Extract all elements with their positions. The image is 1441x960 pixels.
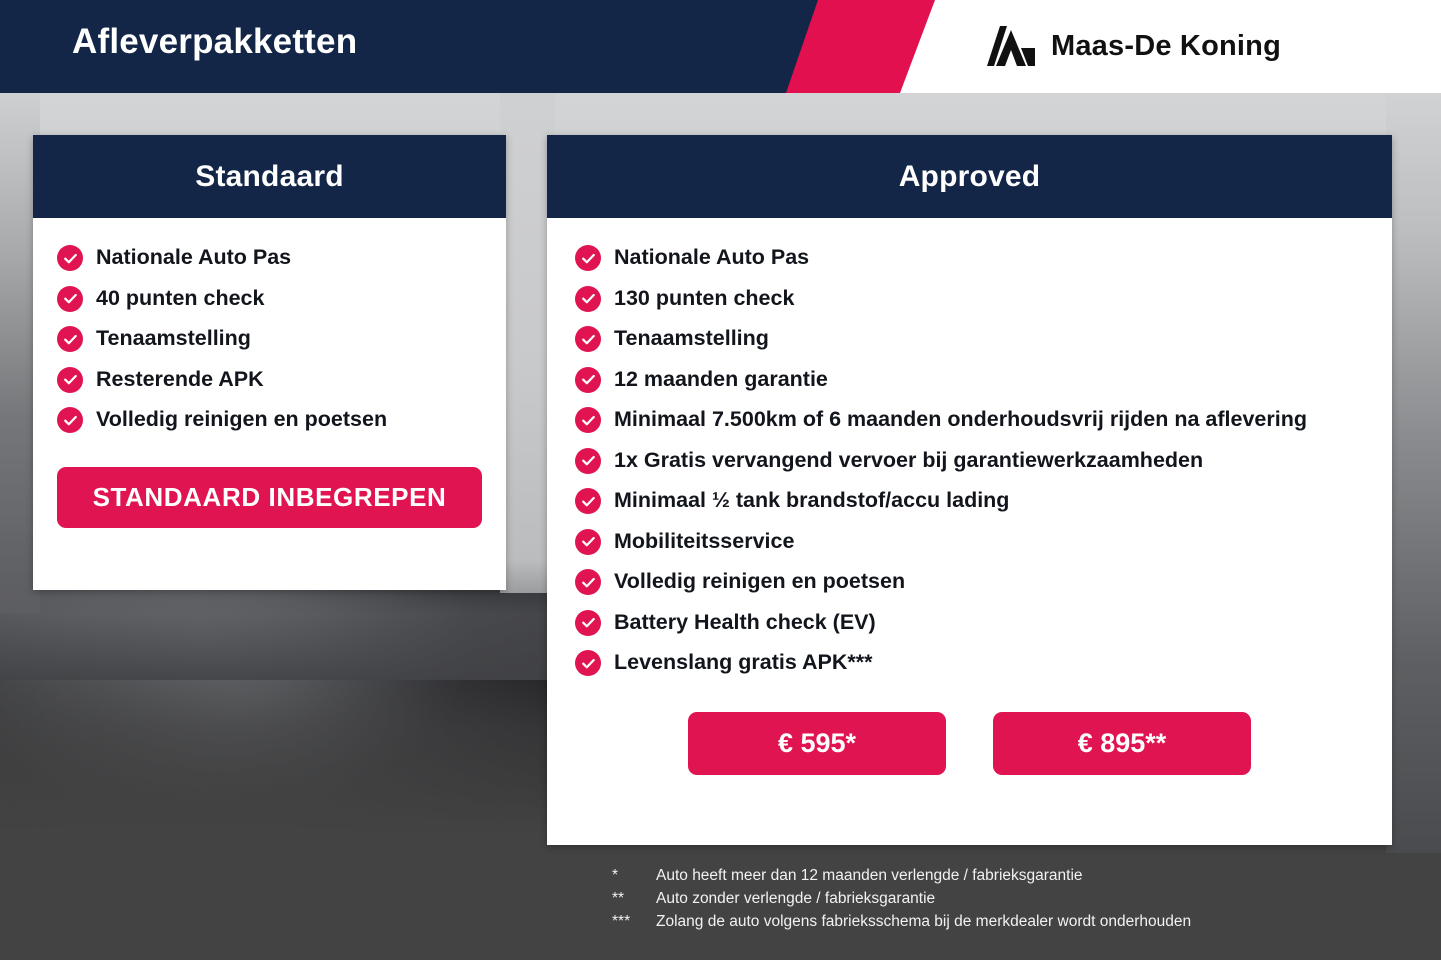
package-title-approved: Approved bbox=[547, 135, 1392, 218]
package-card-standaard: Standaard Nationale Auto Pas 40 punten c… bbox=[33, 135, 506, 590]
list-item: Nationale Auto Pas bbox=[575, 242, 1366, 273]
standaard-inbegrepen-button[interactable]: STANDAARD INBEGREPEN bbox=[57, 467, 482, 528]
footnote-row: * Auto heeft meer dan 12 maanden verleng… bbox=[612, 864, 1191, 887]
footnotes: * Auto heeft meer dan 12 maanden verleng… bbox=[612, 864, 1191, 933]
price-button-595[interactable]: € 595* bbox=[688, 712, 946, 775]
check-circle-icon bbox=[575, 286, 601, 312]
poster-stage: Afleverpakketten Maas-De Koning Standaar… bbox=[0, 0, 1441, 960]
check-circle-icon bbox=[57, 367, 83, 393]
check-circle-icon bbox=[57, 245, 83, 271]
page-title: Afleverpakketten bbox=[72, 22, 357, 62]
check-circle-icon bbox=[575, 529, 601, 555]
maas-de-koning-m-icon bbox=[987, 26, 1035, 66]
feature-label: 1x Gratis vervangend vervoer bij garanti… bbox=[614, 445, 1203, 476]
check-circle-icon bbox=[575, 407, 601, 433]
list-item: Resterende APK bbox=[57, 364, 484, 395]
check-circle-icon bbox=[575, 610, 601, 636]
package-body-approved: Nationale Auto Pas 130 punten check Tena… bbox=[547, 218, 1392, 803]
feature-label: Nationale Auto Pas bbox=[96, 242, 291, 273]
package-body-standaard: Nationale Auto Pas 40 punten check Tenaa… bbox=[33, 218, 506, 554]
check-circle-icon bbox=[575, 488, 601, 514]
check-circle-icon bbox=[575, 569, 601, 595]
background-right-band bbox=[1386, 93, 1441, 853]
page-header: Afleverpakketten Maas-De Koning bbox=[0, 0, 1441, 93]
price-button-row: € 595* € 895** bbox=[547, 688, 1392, 803]
list-item: 1x Gratis vervangend vervoer bij garanti… bbox=[575, 445, 1366, 476]
feature-list-approved: Nationale Auto Pas 130 punten check Tena… bbox=[547, 242, 1392, 678]
feature-label: Volledig reinigen en poetsen bbox=[96, 404, 387, 435]
list-item: Minimaal ½ tank brandstof/accu lading bbox=[575, 485, 1366, 516]
footnote-text: Zolang de auto volgens fabrieksschema bi… bbox=[656, 910, 1191, 933]
footnote-row: *** Zolang de auto volgens fabrieksschem… bbox=[612, 910, 1191, 933]
check-circle-icon bbox=[575, 326, 601, 352]
feature-label: 40 punten check bbox=[96, 283, 264, 314]
footnote-marker: *** bbox=[612, 910, 656, 933]
list-item: Nationale Auto Pas bbox=[57, 242, 484, 273]
list-item: 130 punten check bbox=[575, 283, 1366, 314]
brand-logo: Maas-De Koning bbox=[987, 26, 1281, 66]
footnote-text: Auto zonder verlengde / fabrieksgarantie bbox=[656, 887, 935, 910]
footnote-marker: ** bbox=[612, 887, 656, 910]
feature-label: 12 maanden garantie bbox=[614, 364, 828, 395]
check-circle-icon bbox=[575, 245, 601, 271]
footnote-marker: * bbox=[612, 864, 656, 887]
check-circle-icon bbox=[57, 326, 83, 352]
feature-label: Battery Health check (EV) bbox=[614, 607, 876, 638]
standaard-cta-wrapper: STANDAARD INBEGREPEN bbox=[33, 445, 506, 554]
brand-name: Maas-De Koning bbox=[1051, 30, 1281, 63]
list-item: Levenslang gratis APK*** bbox=[575, 647, 1366, 678]
feature-label: Resterende APK bbox=[96, 364, 264, 395]
check-circle-icon bbox=[57, 286, 83, 312]
check-circle-icon bbox=[57, 407, 83, 433]
package-title-standaard: Standaard bbox=[33, 135, 506, 218]
feature-label: 130 punten check bbox=[614, 283, 794, 314]
list-item: Volledig reinigen en poetsen bbox=[575, 566, 1366, 597]
feature-label: Volledig reinigen en poetsen bbox=[614, 566, 905, 597]
feature-list-standaard: Nationale Auto Pas 40 punten check Tenaa… bbox=[33, 242, 506, 435]
feature-label: Minimaal ½ tank brandstof/accu lading bbox=[614, 485, 1009, 516]
check-circle-icon bbox=[575, 650, 601, 676]
list-item: Mobiliteitsservice bbox=[575, 526, 1366, 557]
feature-label: Mobiliteitsservice bbox=[614, 526, 794, 557]
list-item: Tenaamstelling bbox=[57, 323, 484, 354]
list-item: Minimaal 7.500km of 6 maanden onderhouds… bbox=[575, 404, 1366, 435]
list-item: 40 punten check bbox=[57, 283, 484, 314]
check-circle-icon bbox=[575, 367, 601, 393]
package-card-approved: Approved Nationale Auto Pas 130 punten c… bbox=[547, 135, 1392, 845]
footnote-row: ** Auto zonder verlengde / fabrieksgaran… bbox=[612, 887, 1191, 910]
feature-label: Minimaal 7.500km of 6 maanden onderhouds… bbox=[614, 404, 1307, 435]
footnote-text: Auto heeft meer dan 12 maanden verlengde… bbox=[656, 864, 1083, 887]
feature-label: Tenaamstelling bbox=[614, 323, 769, 354]
list-item: 12 maanden garantie bbox=[575, 364, 1366, 395]
list-item: Battery Health check (EV) bbox=[575, 607, 1366, 638]
feature-label: Tenaamstelling bbox=[96, 323, 251, 354]
check-circle-icon bbox=[575, 448, 601, 474]
list-item: Tenaamstelling bbox=[575, 323, 1366, 354]
feature-label: Nationale Auto Pas bbox=[614, 242, 809, 273]
feature-label: Levenslang gratis APK*** bbox=[614, 647, 872, 678]
price-button-895[interactable]: € 895** bbox=[993, 712, 1251, 775]
list-item: Volledig reinigen en poetsen bbox=[57, 404, 484, 435]
